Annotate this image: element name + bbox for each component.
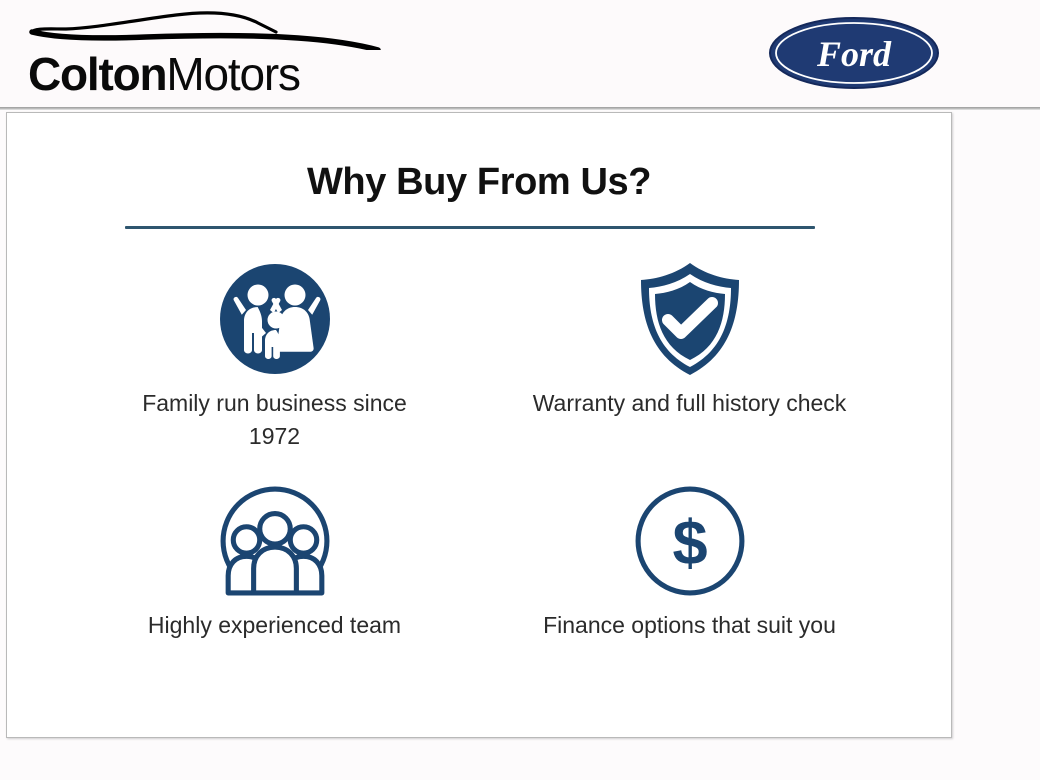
page-title: Why Buy From Us? (7, 161, 951, 204)
features-grid: Family run business since 1972 Warranty … (67, 261, 897, 705)
why-buy-panel: Why Buy From Us? (6, 112, 952, 738)
brand-name-bold: Colton (28, 48, 166, 100)
team-icon-wrapper (217, 483, 333, 599)
page-header: ColtonMotors Ford (0, 0, 1040, 107)
team-group-icon (218, 484, 332, 598)
title-divider (125, 226, 815, 229)
brand-name-light: Motors (166, 48, 299, 100)
family-icon-wrapper (217, 261, 333, 377)
feature-item-team: Highly experienced team (67, 483, 482, 705)
feature-label: Family run business since 1972 (120, 387, 430, 453)
shield-icon-wrapper (632, 261, 748, 377)
feature-label: Finance options that suit you (530, 609, 850, 642)
feature-label: Warranty and full history check (530, 387, 850, 420)
dollar-icon-wrapper: $ (632, 483, 748, 599)
svg-text:$: $ (672, 508, 707, 578)
family-icon (220, 264, 330, 374)
feature-item-warranty: Warranty and full history check (482, 261, 897, 483)
feature-item-family: Family run business since 1972 (67, 261, 482, 483)
header-divider (0, 107, 1040, 110)
feature-label: Highly experienced team (120, 609, 430, 642)
shield-check-icon (634, 260, 746, 378)
car-silhouette-icon (26, 8, 386, 50)
colton-motors-logo[interactable]: ColtonMotors (26, 8, 386, 100)
ford-oval-logo[interactable]: Ford (768, 16, 940, 90)
dollar-circle-icon: $ (633, 484, 747, 598)
feature-item-finance: $ Finance options that suit you (482, 483, 897, 705)
brand-wordmark: ColtonMotors (28, 46, 300, 102)
ford-wordmark: Ford (816, 34, 892, 74)
